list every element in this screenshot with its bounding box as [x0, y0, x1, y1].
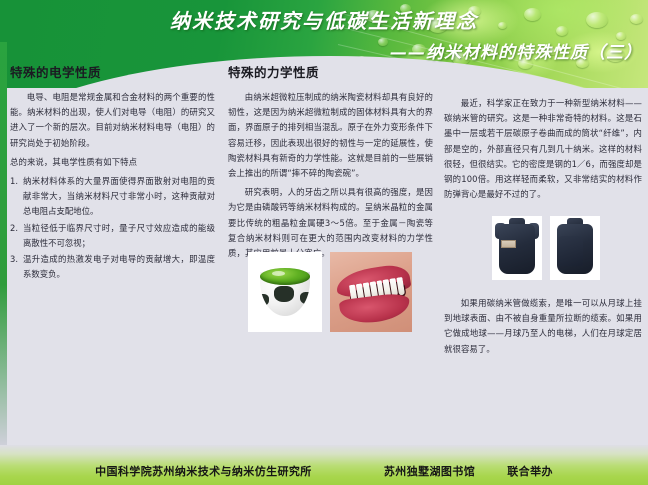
paragraph: 电导、电阻是常规金属和合金材料的两个重要的性能。纳米材料的出现，使人们对电导（电… — [10, 90, 215, 151]
footer-org-library: 苏州独墅湖图书馆 — [384, 463, 475, 479]
paragraph: 最近，科学家正在致力于一种新型纳米材料——碳纳米管的研究。这是一种非常奇特的材料… — [444, 96, 642, 202]
mechanical-photo-row — [248, 252, 412, 332]
list-intro-text: 总的来说，其电学性质有如下特点 — [10, 155, 215, 170]
list-item: 3. 温升造成的热激发电子对电导的贡献增大，即温度系数变负。 — [10, 252, 215, 282]
list-item-number: 1. — [10, 174, 18, 189]
left-green-rail — [0, 42, 7, 446]
body-armor-front-photo — [492, 216, 542, 280]
vest-flag-patch — [501, 240, 516, 248]
column-mechanical-properties: 特殊的力学性质 由纳米超微粒压制成的纳米陶瓷材料却具有良好的韧性，这是因为纳米超… — [228, 62, 433, 265]
footer-cohost-label: 联合举办 — [507, 463, 553, 479]
column-carbon-nanotube: 最近，科学家正在致力于一种新型纳米材料——碳纳米管的研究。这是一种非常奇特的材料… — [444, 96, 642, 206]
ceramic-bowl-photo — [248, 252, 322, 332]
body-armor-photo-row — [492, 216, 600, 280]
list-item-text: 温升造成的热激发电子对电导的贡献增大，即温度系数变负。 — [23, 254, 215, 279]
column-space-elevator: 如果用碳纳米管做缆索，是唯一可以从月球上挂到地球表面、由不被自身重量所拉断的缆索… — [444, 296, 642, 361]
list-item-number: 2. — [10, 221, 18, 236]
list-item-number: 3. — [10, 252, 18, 267]
section-heading-electrical: 特殊的电学性质 — [10, 62, 215, 81]
footer-org-institute: 中国科学院苏州纳米技术与纳米仿生研究所 — [95, 463, 312, 479]
paragraph: 如果用碳纳米管做缆索，是唯一可以从月球上挂到地球表面、由不被自身重量所拉断的缆索… — [444, 296, 642, 357]
electrical-properties-list: 1. 纳米材料体系的大量界面使得界面散射对电阻的贡献非常大，当纳米材料尺寸非常小… — [10, 174, 215, 282]
bowl-highlight — [272, 271, 285, 276]
page-subtitle: ——纳米材料的特殊性质（三） — [390, 38, 642, 63]
paragraph: 研究表明，人的牙齿之所以具有很高的强度，是因为它是由磷酸钙等纳米材料构成的。呈纳… — [228, 185, 433, 261]
column-electrical-properties: 特殊的电学性质 电导、电阻是常规金属和合金材料的两个重要的性能。纳米材料的出现，… — [10, 62, 215, 283]
section-heading-mechanical: 特殊的力学性质 — [228, 62, 433, 81]
poster-footer: 中国科学院苏州纳米技术与纳米仿生研究所 苏州独墅湖图书馆 联合举办 — [0, 445, 648, 485]
list-item-text: 纳米材料体系的大量界面使得界面散射对电阻的贡献非常大，当纳米材料尺寸非常小时，这… — [23, 176, 215, 216]
bowl-green-interior — [260, 268, 310, 285]
body-armor-back-photo — [550, 216, 600, 280]
list-item-text: 当粒径低于临界尺寸时，量子尺寸效应造成的能级离散性不可忽视； — [23, 223, 215, 248]
teeth-smile-photo — [330, 252, 412, 332]
poster-canvas: 纳米技术研究与低碳生活新理念 ——纳米材料的特殊性质（三） 特殊的电学性质 电导… — [0, 0, 648, 485]
page-title: 纳米技术研究与低碳生活新理念 — [0, 5, 648, 34]
paragraph: 由纳米超微粒压制成的纳米陶瓷材料却具有良好的韧性，这是因为纳米超微粒制成的固体材… — [228, 90, 433, 181]
vest-back-panel — [559, 236, 583, 266]
vest-body — [499, 224, 535, 274]
footer-organizations: 中国科学院苏州纳米技术与纳米仿生研究所 苏州独墅湖图书馆 联合举办 — [0, 460, 648, 479]
list-item: 1. 纳米材料体系的大量界面使得界面散射对电阻的贡献非常大，当纳米材料尺寸非常小… — [10, 174, 215, 220]
list-item: 2. 当粒径低于临界尺寸时，量子尺寸效应造成的能级离散性不可忽视； — [10, 221, 215, 251]
